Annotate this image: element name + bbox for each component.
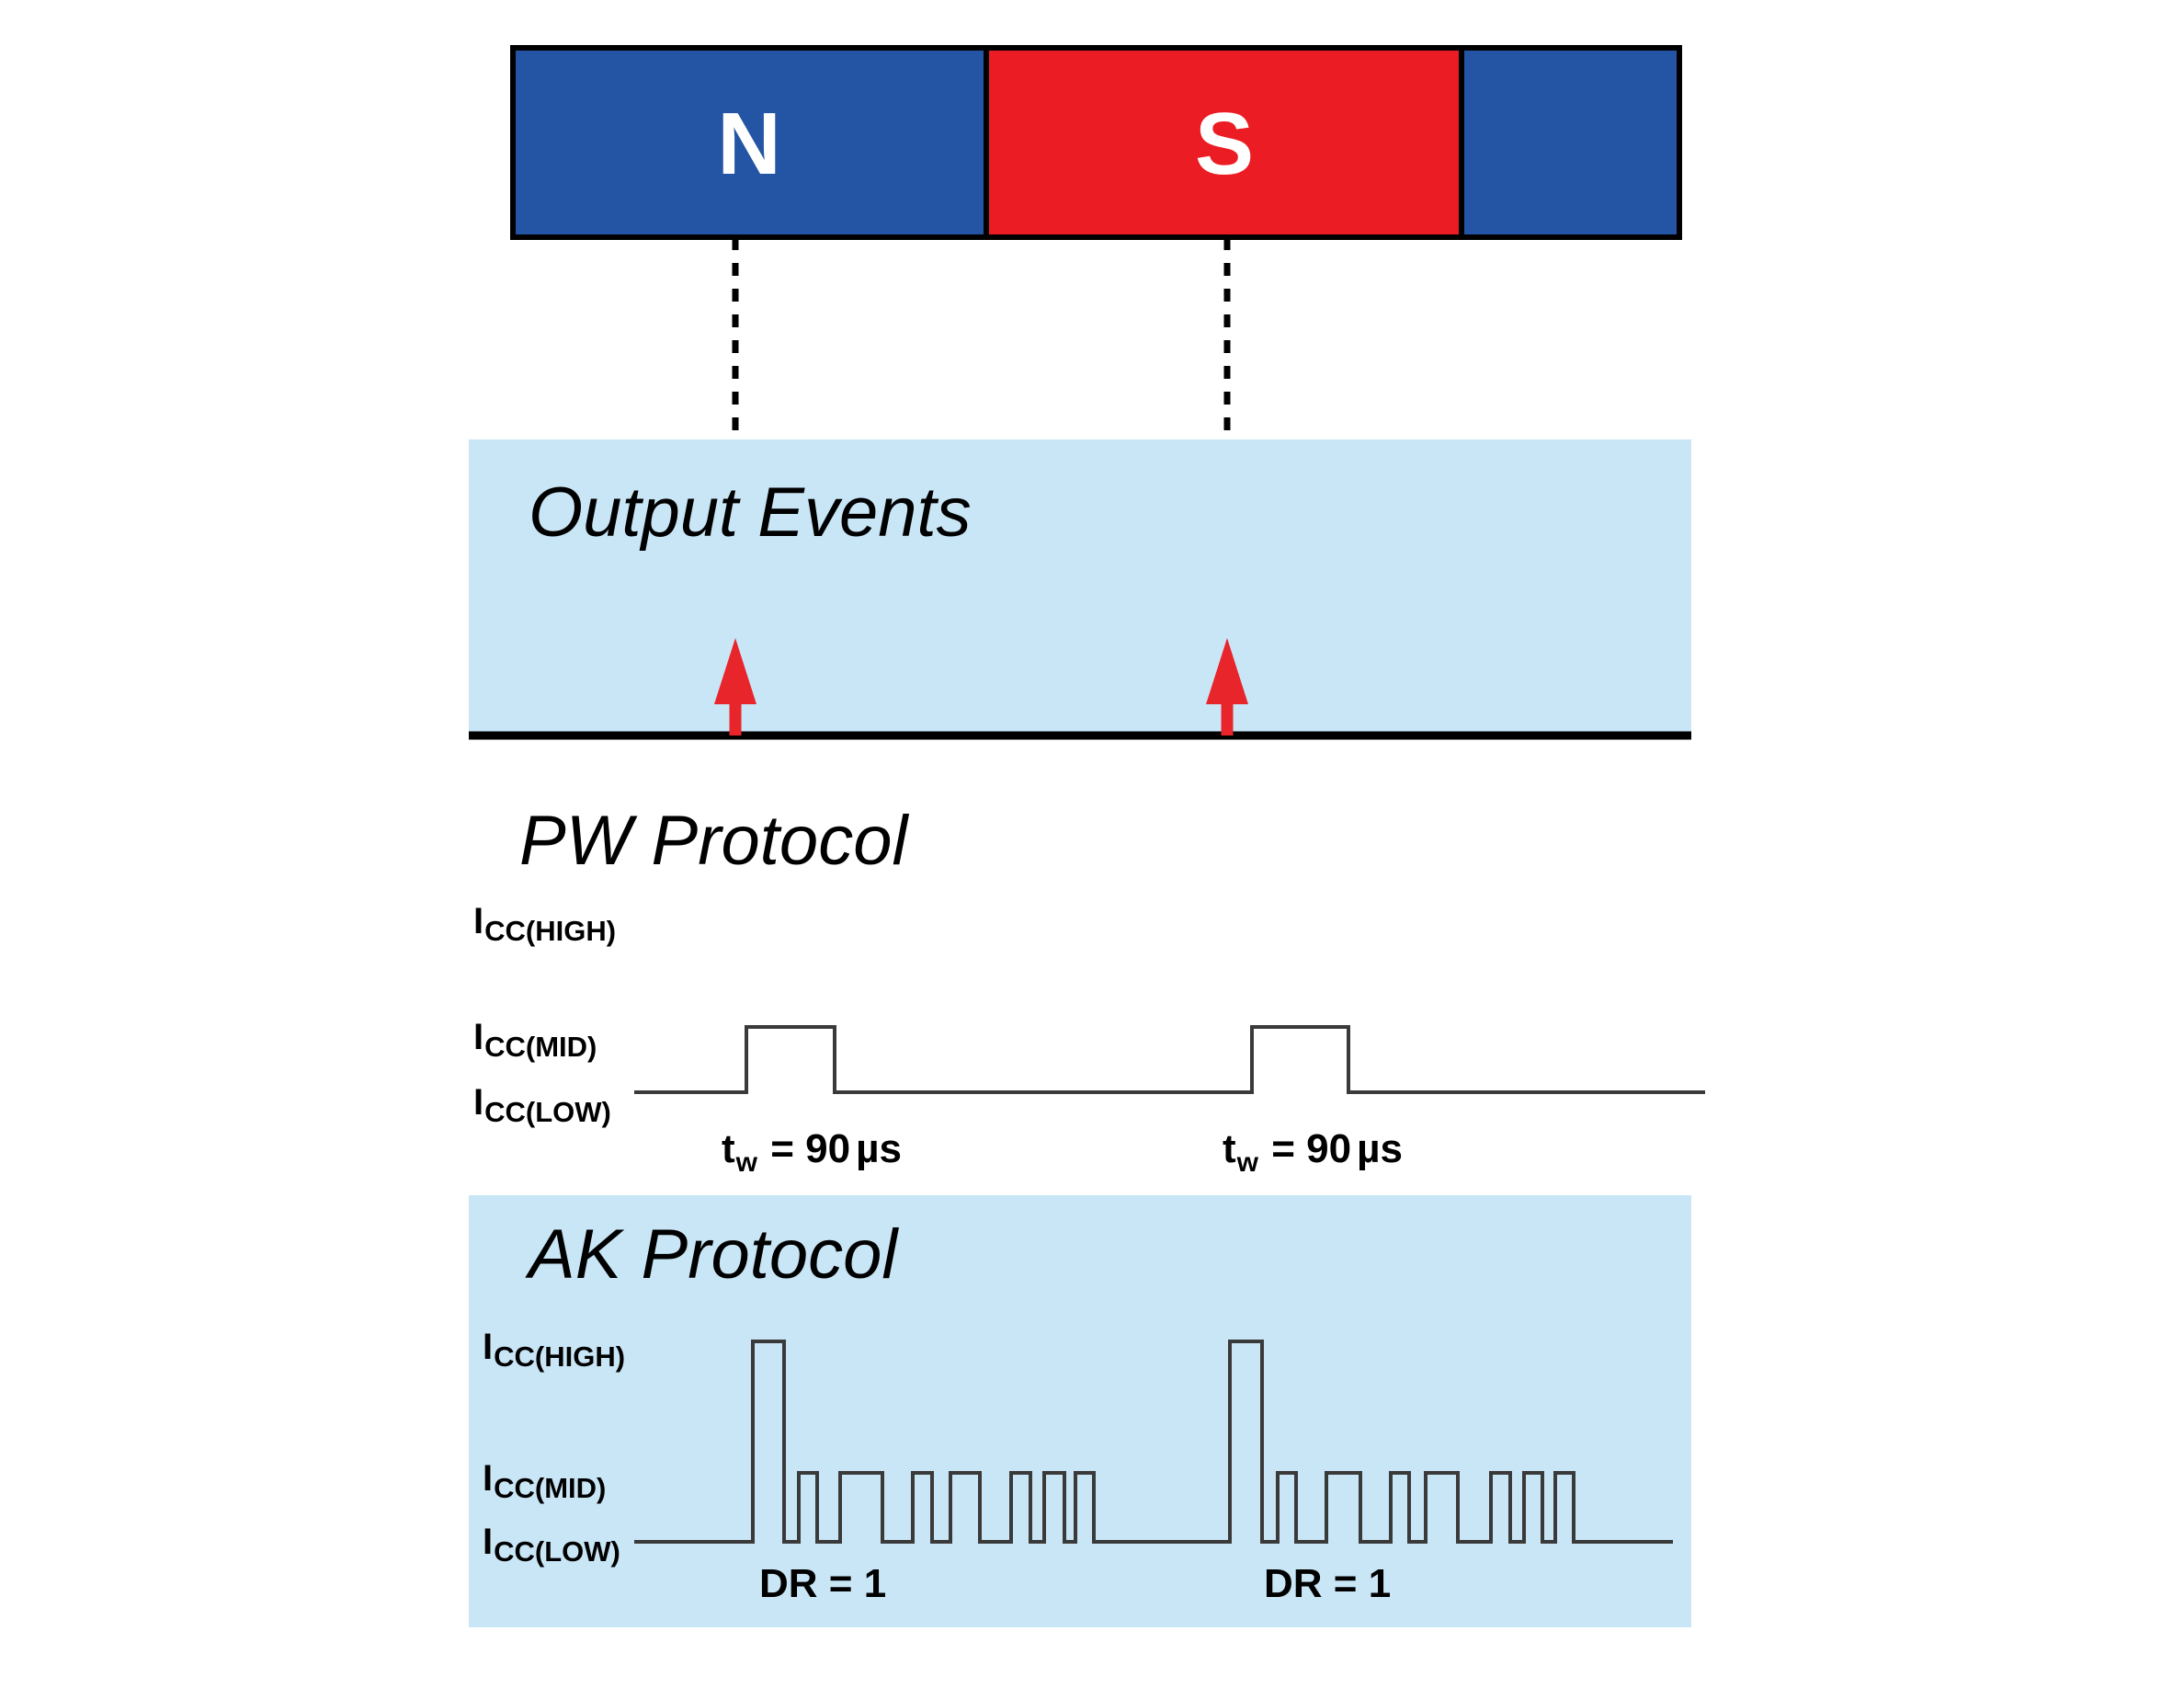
pw-axis-label-0: ICC(HIGH) (473, 901, 616, 947)
output-events-title: Output Events (529, 473, 972, 552)
magnet-pole-label-S: S (1195, 95, 1254, 193)
ak-protocol-title: AK Protocol (525, 1215, 899, 1294)
pw-protocol-title: PW Protocol (519, 802, 909, 880)
magnet-pole-label-N: N (717, 95, 780, 193)
pw-pulse-width-annotation-0: tw = 90µs (722, 1126, 902, 1178)
ak-data-rate-label-1: DR = 1 (1264, 1561, 1391, 1606)
pw-protocol-waveform (634, 1027, 1705, 1092)
pw-axis-label-1: ICC(MID) (473, 1017, 597, 1063)
figure-canvas: NSOutput EventsPW ProtocolICC(HIGH)ICC(M… (0, 0, 2184, 1688)
ak-data-rate-label-0: DR = 1 (759, 1561, 886, 1606)
protocol-diagram: NSOutput EventsPW ProtocolICC(HIGH)ICC(M… (0, 0, 2184, 1688)
pw-pulse-width-annotation-1: tw = 90µs (1223, 1126, 1403, 1178)
magnet-segment-north-2 (1462, 48, 1679, 237)
pw-axis-label-2: ICC(LOW) (473, 1082, 611, 1128)
